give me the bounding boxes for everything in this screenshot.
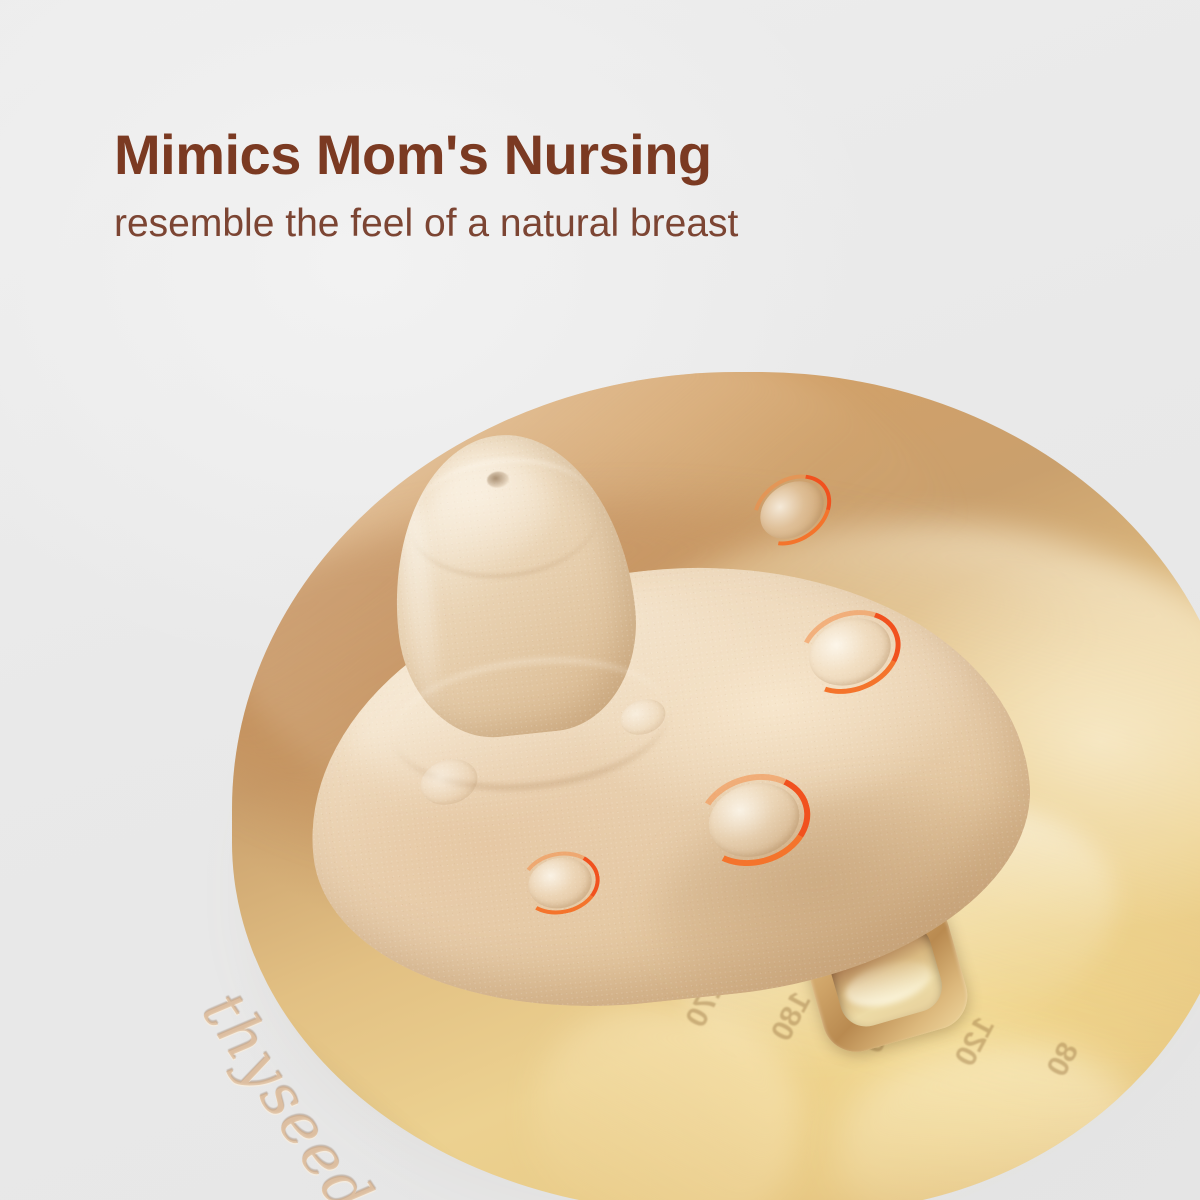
page-subtitle: resemble the feel of a natural breast [114,201,1014,248]
product-banner: Mimics Mom's Nursing resemble the feel o… [0,0,1200,1200]
page-title: Mimics Mom's Nursing [114,126,1014,185]
headline-block: Mimics Mom's Nursing resemble the feel o… [114,126,1014,248]
